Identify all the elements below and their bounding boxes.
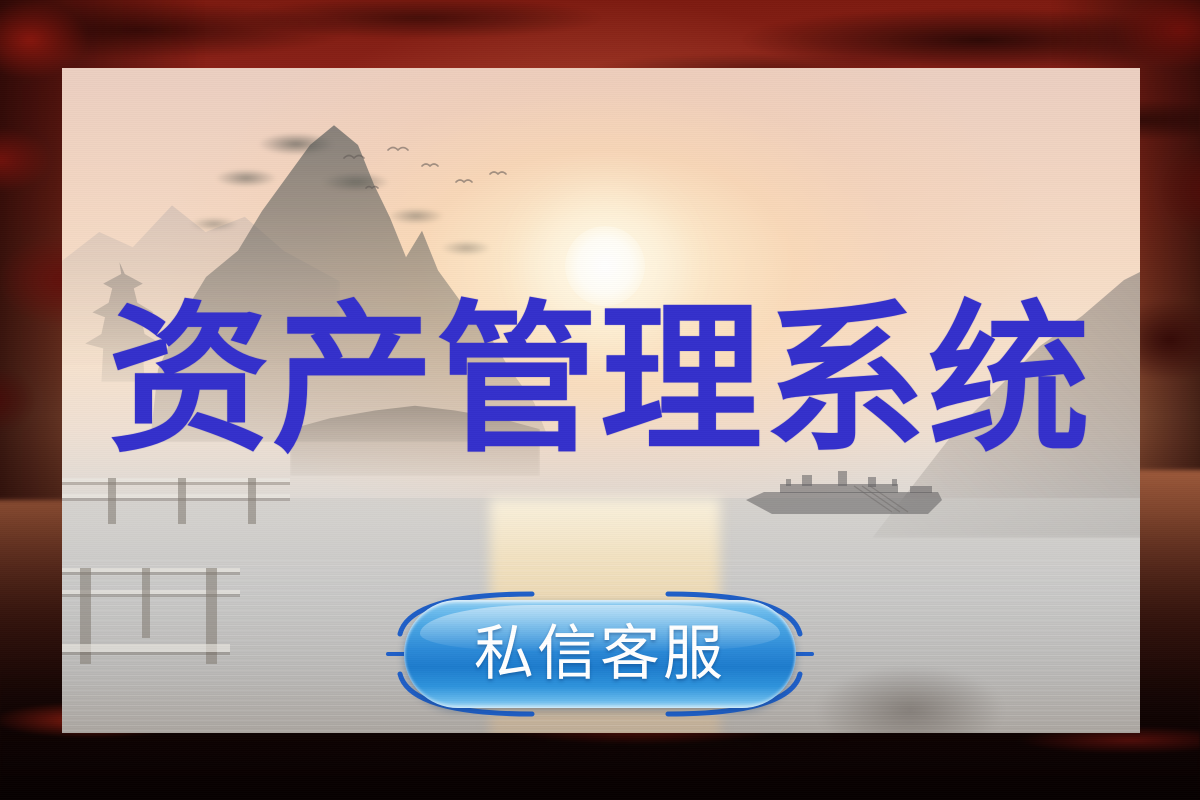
page-title: 资产管理系统 [0,300,1200,462]
cta-container: 私信客服 [382,588,818,720]
poster-canvas: 资产管理系统 私信客服 [0,0,1200,800]
wooden-pier [62,468,290,698]
foreground-rocks [790,640,1050,733]
contact-support-button[interactable]: 私信客服 [404,600,796,708]
ship-silhouette-icon [742,470,950,530]
cta-button-label: 私信客服 [474,624,726,684]
flying-birds-icon [330,140,530,210]
